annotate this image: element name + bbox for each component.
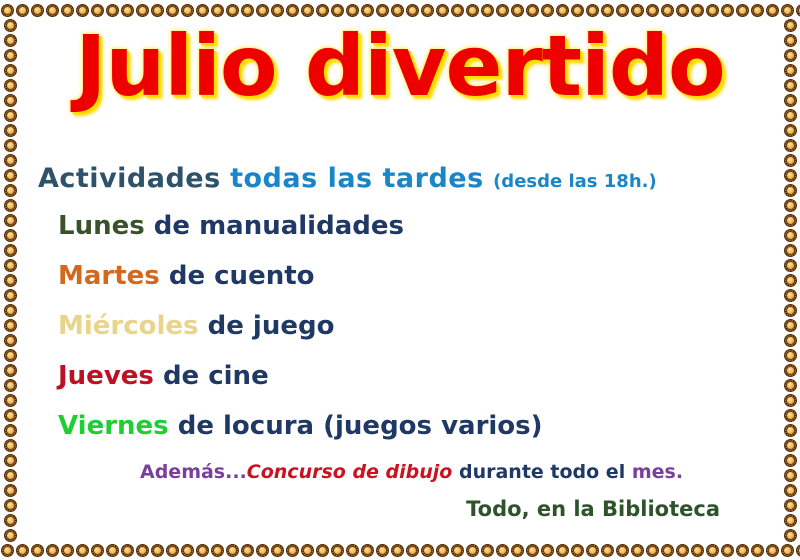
- sun-flower-icon: [0, 543, 15, 558]
- schedule-row-tuesday: Martes de cuento: [0, 251, 800, 301]
- sun-flower-icon: [3, 528, 18, 542]
- sun-flower-icon: [645, 543, 660, 558]
- closing-line: Todo, en la Biblioteca: [0, 495, 800, 523]
- schedule-row-monday: Lunes de manualidades: [0, 201, 800, 251]
- day-label-wednesday: Miércoles: [58, 311, 199, 341]
- sun-flower-icon: [480, 543, 495, 558]
- poster-body: Actividades todas las tardes (desde las …: [0, 160, 800, 523]
- headline-part-1: Actividades: [38, 163, 221, 194]
- sun-flower-icon: [465, 3, 480, 18]
- sun-flower-icon: [600, 3, 615, 18]
- sun-flower-icon: [75, 543, 90, 558]
- sun-flower-icon: [405, 3, 420, 18]
- sun-flower-icon: [735, 543, 750, 558]
- sun-flower-icon: [570, 3, 585, 18]
- sun-flower-icon: [705, 3, 720, 18]
- sun-flower-icon: [105, 543, 120, 558]
- sun-flower-icon: [765, 543, 780, 558]
- sun-flower-icon: [525, 543, 540, 558]
- sun-flower-icon: [630, 543, 645, 558]
- sun-flower-icon: [630, 3, 645, 18]
- headline-part-3: (desde las 18h.): [493, 171, 657, 192]
- sun-flower-icon: [375, 543, 390, 558]
- sun-flower-icon: [210, 3, 225, 18]
- sun-flower-icon: [690, 543, 705, 558]
- sun-flower-icon: [330, 3, 345, 18]
- sun-flower-icon: [783, 528, 798, 542]
- footer-note-part-1: Además...: [140, 461, 247, 483]
- sun-flower-icon: [510, 543, 525, 558]
- sun-flower-icon: [345, 543, 360, 558]
- sun-flower-icon: [795, 3, 800, 18]
- sun-flower-icon: [465, 543, 480, 558]
- footer-note-contest: Concurso de dibujo: [247, 461, 453, 483]
- sun-flower-icon: [300, 543, 315, 558]
- sun-flower-icon: [525, 3, 540, 18]
- sun-flower-icon: [270, 543, 285, 558]
- sun-flower-icon: [570, 543, 585, 558]
- sun-flower-icon: [615, 3, 630, 18]
- sun-flower-icon: [555, 543, 570, 558]
- headline: Actividades todas las tardes (desde las …: [0, 160, 800, 201]
- sun-flower-icon: [45, 3, 60, 18]
- sun-flower-icon: [750, 543, 765, 558]
- sun-flower-icon: [300, 3, 315, 18]
- sun-flower-icon: [210, 543, 225, 558]
- sun-flower-icon: [90, 3, 105, 18]
- sun-flower-icon: [795, 543, 800, 558]
- sun-flower-icon: [165, 543, 180, 558]
- footer-note-part-4: mes.: [632, 461, 683, 483]
- day-label-monday: Lunes: [58, 211, 145, 241]
- sun-flower-icon: [495, 3, 510, 18]
- sun-flower-icon: [705, 543, 720, 558]
- sun-flower-icon: [783, 138, 798, 153]
- sun-flower-icon: [450, 3, 465, 18]
- sun-flower-icon: [660, 3, 675, 18]
- sun-flower-icon: [420, 543, 435, 558]
- day-label-friday: Viernes: [58, 411, 169, 441]
- sun-flower-icon: [255, 3, 270, 18]
- sun-flower-icon: [555, 3, 570, 18]
- border-bottom: [0, 541, 800, 559]
- sun-flower-icon: [675, 543, 690, 558]
- sun-flower-icon: [495, 543, 510, 558]
- sun-flower-icon: [615, 543, 630, 558]
- sun-flower-icon: [75, 3, 90, 18]
- sun-flower-icon: [150, 3, 165, 18]
- sun-flower-icon: [195, 543, 210, 558]
- sun-flower-icon: [180, 3, 195, 18]
- sun-flower-icon: [720, 3, 735, 18]
- poster-canvas: Julio divertido Actividades todas las ta…: [0, 0, 800, 560]
- poster-title: Julio divertido: [75, 22, 724, 110]
- sun-flower-icon: [735, 3, 750, 18]
- schedule-row-thursday: Jueves de cine: [0, 351, 800, 401]
- title-block: Julio divertido: [0, 22, 800, 110]
- footer-note-part-3: durante todo el: [452, 461, 631, 483]
- sun-flower-icon: [645, 3, 660, 18]
- footer-note: Además...Concurso de dibujo durante todo…: [0, 457, 800, 487]
- sun-flower-icon: [540, 543, 555, 558]
- sun-flower-icon: [255, 543, 270, 558]
- day-activity-thursday: de cine: [163, 361, 269, 391]
- sun-flower-icon: [30, 3, 45, 18]
- schedule-row-friday: Viernes de locura (juegos varios): [0, 401, 800, 451]
- sun-flower-icon: [585, 3, 600, 18]
- sun-flower-icon: [360, 3, 375, 18]
- sun-flower-icon: [120, 543, 135, 558]
- sun-flower-icon: [315, 3, 330, 18]
- sun-flower-icon: [435, 543, 450, 558]
- sun-flower-icon: [375, 3, 390, 18]
- sun-flower-icon: [435, 3, 450, 18]
- sun-flower-icon: [510, 3, 525, 18]
- sun-flower-icon: [783, 108, 798, 123]
- sun-flower-icon: [315, 543, 330, 558]
- sun-flower-icon: [675, 3, 690, 18]
- sun-flower-icon: [480, 3, 495, 18]
- sun-flower-icon: [345, 3, 360, 18]
- sun-flower-icon: [135, 3, 150, 18]
- sun-flower-icon: [60, 543, 75, 558]
- sun-flower-icon: [3, 108, 18, 123]
- sun-flower-icon: [450, 543, 465, 558]
- sun-flower-icon: [540, 3, 555, 18]
- sun-flower-icon: [225, 543, 240, 558]
- day-activity-wednesday: de juego: [208, 311, 335, 341]
- sun-flower-icon: [165, 3, 180, 18]
- sun-flower-icon: [660, 543, 675, 558]
- sun-flower-icon: [225, 3, 240, 18]
- sun-flower-icon: [783, 123, 798, 138]
- day-activity-monday: de manualidades: [154, 211, 404, 241]
- sun-flower-icon: [690, 3, 705, 18]
- sun-flower-icon: [195, 3, 210, 18]
- sun-flower-icon: [720, 543, 735, 558]
- sun-flower-icon: [15, 543, 30, 558]
- sun-flower-icon: [240, 543, 255, 558]
- day-label-tuesday: Martes: [58, 261, 160, 291]
- sun-flower-icon: [360, 543, 375, 558]
- sun-flower-icon: [780, 543, 795, 558]
- sun-flower-icon: [30, 543, 45, 558]
- sun-flower-icon: [270, 3, 285, 18]
- headline-part-2: todas las tardes: [230, 163, 484, 194]
- sun-flower-icon: [45, 543, 60, 558]
- sun-flower-icon: [135, 543, 150, 558]
- sun-flower-icon: [390, 3, 405, 18]
- sun-flower-icon: [330, 543, 345, 558]
- day-label-thursday: Jueves: [58, 361, 154, 391]
- sun-flower-icon: [420, 3, 435, 18]
- sun-flower-icon: [0, 3, 15, 18]
- sun-flower-icon: [585, 543, 600, 558]
- sun-flower-icon: [765, 3, 780, 18]
- day-activity-tuesday: de cuento: [169, 261, 315, 291]
- sun-flower-icon: [180, 543, 195, 558]
- sun-flower-icon: [150, 543, 165, 558]
- sun-flower-icon: [60, 3, 75, 18]
- sun-flower-icon: [240, 3, 255, 18]
- sun-flower-icon: [285, 543, 300, 558]
- day-activity-friday: de locura (juegos varios): [178, 411, 543, 441]
- sun-flower-icon: [15, 3, 30, 18]
- sun-flower-icon: [120, 3, 135, 18]
- sun-flower-icon: [285, 3, 300, 18]
- sun-flower-icon: [405, 543, 420, 558]
- sun-flower-icon: [600, 543, 615, 558]
- sun-flower-icon: [3, 123, 18, 138]
- sun-flower-icon: [750, 3, 765, 18]
- sun-flower-icon: [90, 543, 105, 558]
- sun-flower-icon: [780, 3, 795, 18]
- sun-flower-icon: [3, 138, 18, 153]
- sun-flower-icon: [390, 543, 405, 558]
- schedule-row-wednesday: Miércoles de juego: [0, 301, 800, 351]
- sun-flower-icon: [105, 3, 120, 18]
